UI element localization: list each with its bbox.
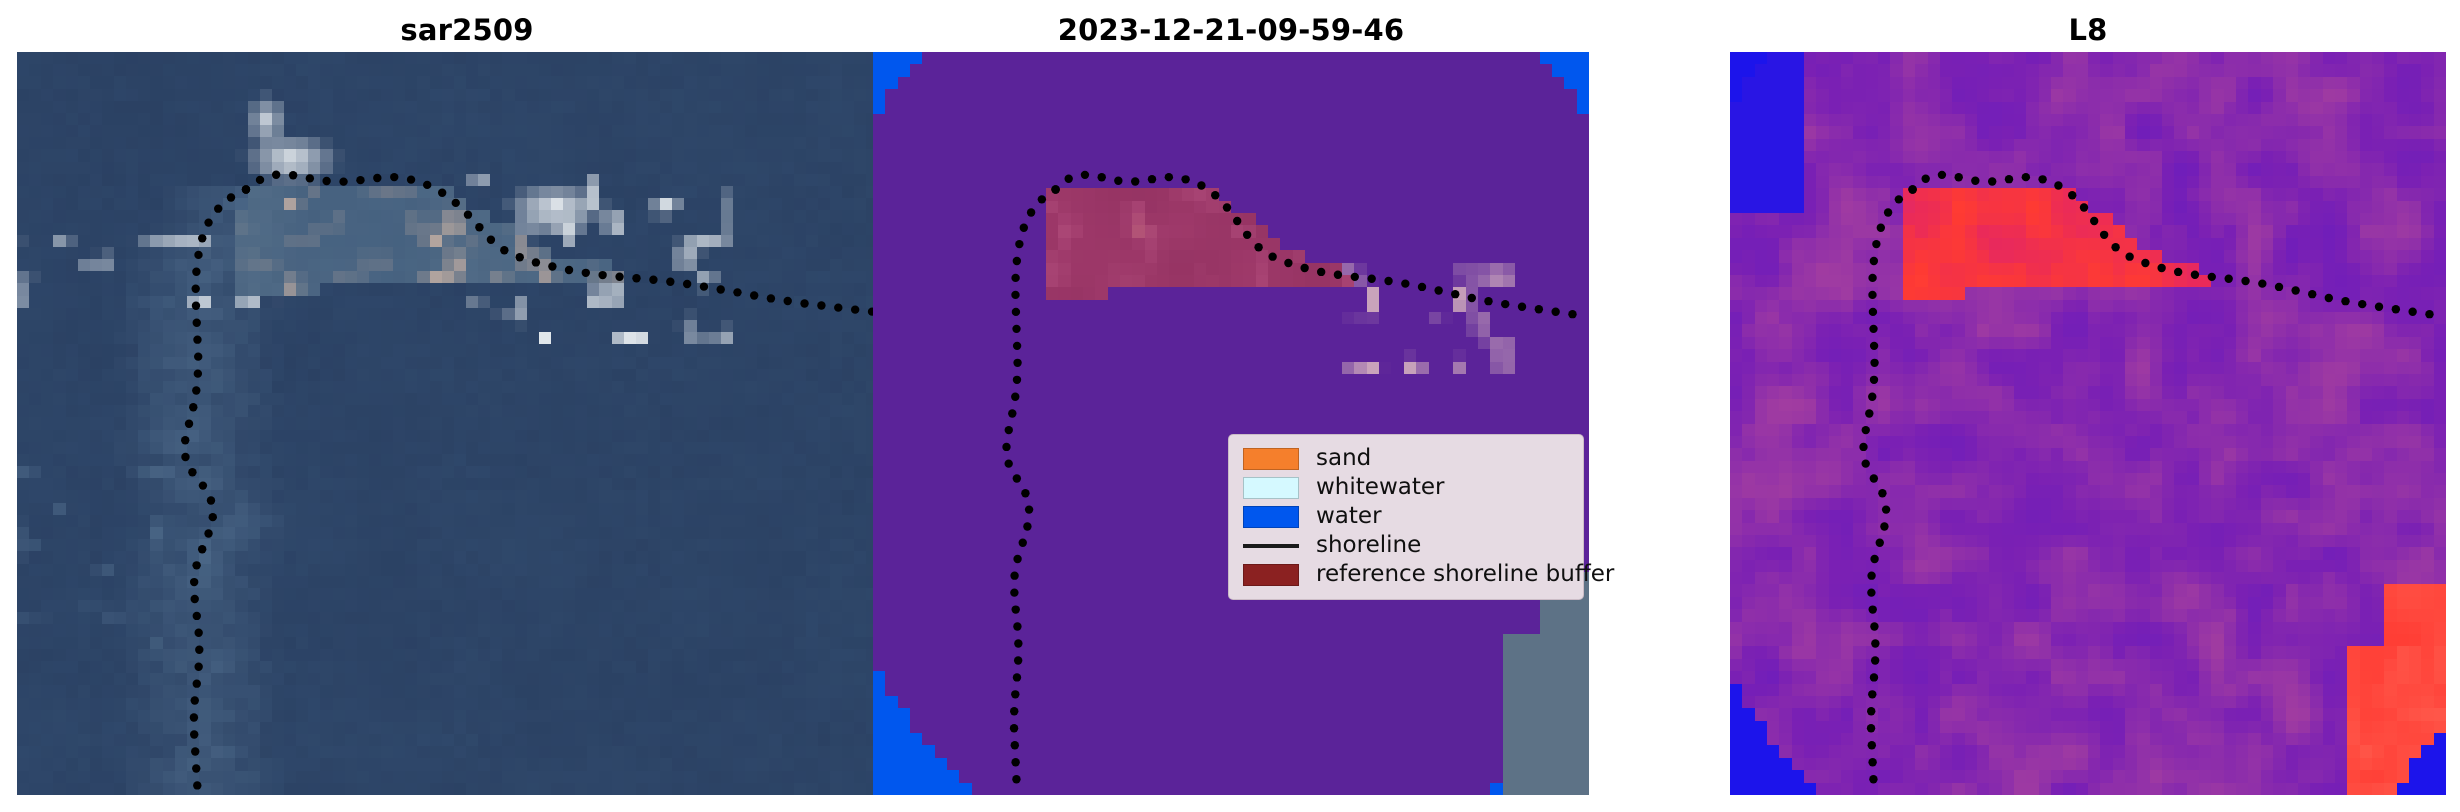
panel-index: L8: [1730, 8, 2446, 812]
water-swatch-icon: [1243, 506, 1299, 528]
panel-index-axes: [1730, 52, 2446, 795]
legend-label-reference-buffer: reference shoreline buffer: [1316, 563, 1614, 586]
panel-rgb: sar2509: [17, 8, 917, 812]
panel-rgb-title: sar2509: [17, 8, 917, 52]
sand-swatch-icon: [1243, 448, 1299, 470]
legend-label-shoreline: shoreline: [1316, 534, 1421, 557]
legend-item-whitewater: whitewater: [1243, 473, 1569, 502]
panel-classified: 2023-12-21-09-59-46: [873, 8, 1589, 812]
legend-label-sand: sand: [1316, 447, 1371, 470]
legend-item-reference-buffer: reference shoreline buffer: [1243, 560, 1569, 589]
reference-buffer-swatch-icon: [1243, 564, 1299, 586]
panel-classified-axes: [873, 52, 1589, 795]
legend-item-water: water: [1243, 502, 1569, 531]
panel-classified-image: [873, 52, 1589, 795]
legend-item-shoreline: shoreline: [1243, 531, 1569, 560]
panel-rgb-axes: [17, 52, 915, 795]
legend: sand whitewater water shoreline referenc…: [1228, 434, 1584, 600]
panel-index-image: [1730, 52, 2446, 795]
whitewater-swatch-icon: [1243, 477, 1299, 499]
shoreline-line-icon: [1243, 544, 1299, 548]
figure-root: sar2509 2023-12-21-09-59-46 L8 sand whit…: [0, 0, 2460, 812]
panel-classified-title: 2023-12-21-09-59-46: [873, 8, 1589, 52]
panel-index-title: L8: [1730, 8, 2446, 52]
legend-item-sand: sand: [1243, 444, 1569, 473]
legend-label-whitewater: whitewater: [1316, 476, 1444, 499]
panel-rgb-image: [17, 52, 915, 795]
legend-label-water: water: [1316, 505, 1382, 528]
